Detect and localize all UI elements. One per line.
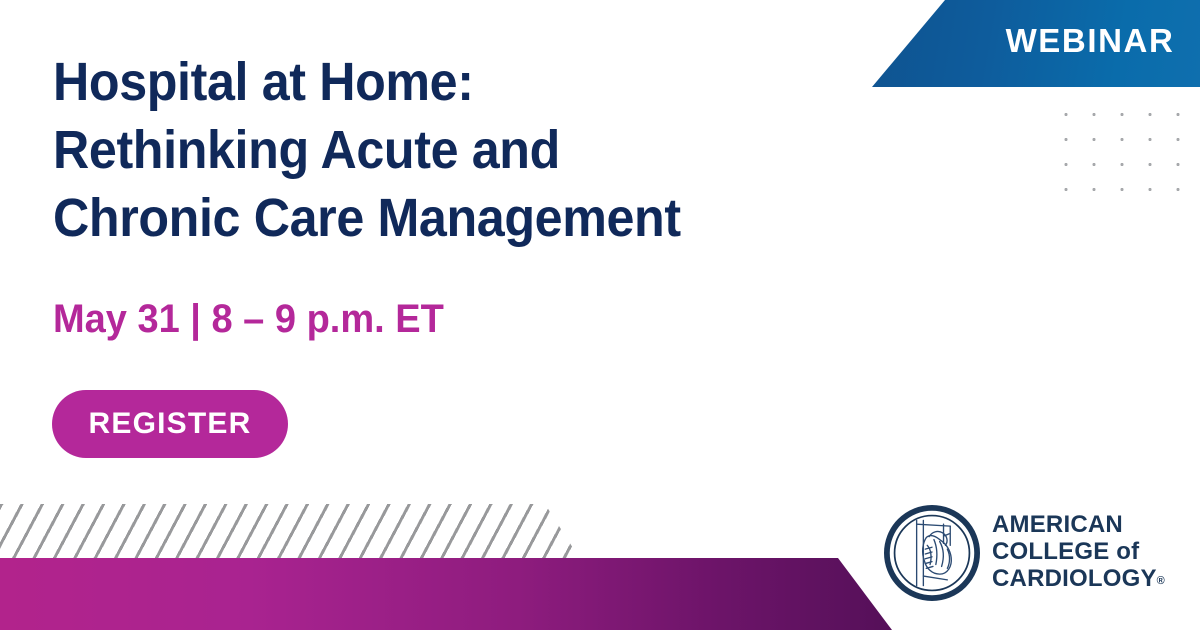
acc-logo: AMERICAN COLLEGE of CARDIOLOGY® (884, 503, 1184, 603)
acc-wordmark-of: of (1116, 538, 1139, 565)
diagonal-stripes-decoration (0, 504, 580, 559)
page-title-line-1: Hospital at Home: (53, 48, 825, 116)
acc-wordmark-line-1: AMERICAN (992, 511, 1165, 538)
page-title-line-2: Rethinking Acute and (53, 116, 825, 184)
dot-grid-decoration (1048, 98, 1188, 210)
acc-wordmark: AMERICAN COLLEGE of CARDIOLOGY® (992, 511, 1165, 595)
registered-trademark-icon: ® (1157, 575, 1165, 587)
event-datetime: May 31 | 8 – 9 p.m. ET (53, 297, 444, 342)
page-title-line-3: Chronic Care Management (53, 184, 825, 252)
acc-wordmark-college: COLLEGE (992, 538, 1109, 565)
page-title: Hospital at Home: Rethinking Acute and C… (53, 48, 825, 252)
webinar-label: WEBINAR (1000, 22, 1180, 60)
bottom-color-band (0, 558, 892, 630)
acc-wordmark-cardiology: CARDIOLOGY (992, 565, 1157, 592)
acc-wordmark-line-3: CARDIOLOGY® (992, 565, 1165, 595)
register-button[interactable]: REGISTER (52, 390, 288, 458)
acc-heart-seal-emblem (884, 505, 980, 601)
promo-banner-canvas: WEBINAR Hospital at Home: Rethinking Acu… (0, 0, 1200, 630)
acc-wordmark-line-2: COLLEGE of (992, 538, 1165, 565)
